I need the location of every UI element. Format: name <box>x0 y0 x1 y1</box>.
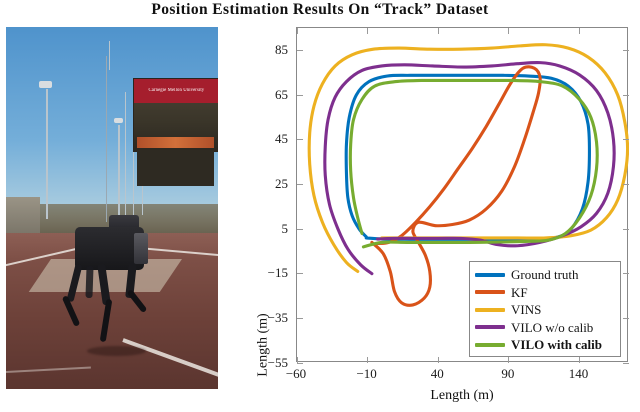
photo-light-pole <box>46 89 48 219</box>
y-tick <box>297 363 303 364</box>
y-tick <box>297 184 303 185</box>
y-tick <box>623 363 629 364</box>
robot-photo: Carnegie Mellon University <box>6 27 218 389</box>
trajectory-vilo-with-calib <box>350 80 597 246</box>
legend-swatch <box>475 308 505 312</box>
y-tick <box>297 318 303 319</box>
y-tick <box>623 318 629 319</box>
x-tick-label: 140 <box>549 367 609 380</box>
legend-label: VINS <box>511 303 541 316</box>
photo-scoreboard-legs <box>137 150 213 186</box>
photo-light-pole <box>106 56 108 223</box>
x-tick <box>367 357 368 363</box>
scoreboard-banner: Carnegie Mellon University <box>134 79 218 104</box>
legend-item-kf[interactable]: KF <box>475 284 615 302</box>
y-tick <box>623 50 629 51</box>
y-tick <box>297 139 303 140</box>
y-tick <box>297 95 303 96</box>
robot-leg <box>126 288 147 312</box>
photo-light-pole <box>109 41 110 70</box>
figure-root: Position Estimation Results On “Track” D… <box>0 0 640 412</box>
legend-label: VILO w/o calib <box>511 321 593 334</box>
robot-leg <box>85 266 93 298</box>
x-tick <box>438 28 439 34</box>
legend-item-vilo-with-calib[interactable]: VILO with calib <box>475 336 615 354</box>
photo-scoreboard-strip <box>137 137 213 148</box>
robot-sensor <box>134 233 148 265</box>
photo-flag-pole <box>118 125 119 219</box>
y-axis-title: Length (m) <box>256 313 272 376</box>
y-tick <box>297 273 303 274</box>
x-tick-label: 40 <box>407 367 467 380</box>
figure-title: Position Estimation Results On “Track” D… <box>0 1 640 19</box>
x-axis-title: Length (m) <box>296 388 628 404</box>
robot-leg <box>100 299 113 343</box>
y-tick <box>623 273 629 274</box>
y-tick <box>297 229 303 230</box>
photo-stadium-lamp <box>114 118 123 123</box>
x-tick <box>508 357 509 363</box>
legend-swatch <box>475 290 505 294</box>
y-tick <box>623 184 629 185</box>
y-tick <box>623 139 629 140</box>
legend-label: KF <box>511 286 528 299</box>
y-tick-label: 65 <box>244 88 288 101</box>
x-tick <box>579 28 580 34</box>
robot-leg <box>67 264 83 302</box>
x-tick <box>579 357 580 363</box>
robot-shadow <box>87 346 146 356</box>
legend-item-vilo-w-o-calib[interactable]: VILO w/o calib <box>475 319 615 337</box>
x-tick-label: −10 <box>337 367 397 380</box>
legend-swatch <box>475 343 505 347</box>
x-tick <box>297 28 298 34</box>
photo-flag-pole <box>125 92 126 215</box>
x-tick-label: −60 <box>266 367 326 380</box>
scoreboard-text: Carnegie Mellon University <box>149 89 205 94</box>
legend-item-ground-truth[interactable]: Ground truth <box>475 266 615 284</box>
y-tick-label: −15 <box>244 266 288 279</box>
x-tick-label: 90 <box>478 367 538 380</box>
legend-label: Ground truth <box>511 268 579 281</box>
legend-swatch <box>475 273 505 277</box>
y-tick <box>297 50 303 51</box>
x-tick <box>297 357 298 363</box>
chart-legend[interactable]: Ground truthKFVINSVILO w/o calibVILO wit… <box>469 261 621 357</box>
x-tick <box>438 357 439 363</box>
y-tick-label: 85 <box>244 43 288 56</box>
y-tick <box>623 229 629 230</box>
legend-item-vins[interactable]: VINS <box>475 301 615 319</box>
photo-quadruped-robot <box>70 215 159 360</box>
x-tick <box>367 28 368 34</box>
legend-label: VILO with calib <box>511 338 602 351</box>
photo-stadium-lamp <box>39 81 52 88</box>
y-tick <box>623 95 629 96</box>
legend-swatch <box>475 325 505 329</box>
y-tick-label: 45 <box>244 132 288 145</box>
y-tick-label: 25 <box>244 177 288 190</box>
y-tick-label: 5 <box>244 222 288 235</box>
x-tick <box>508 28 509 34</box>
